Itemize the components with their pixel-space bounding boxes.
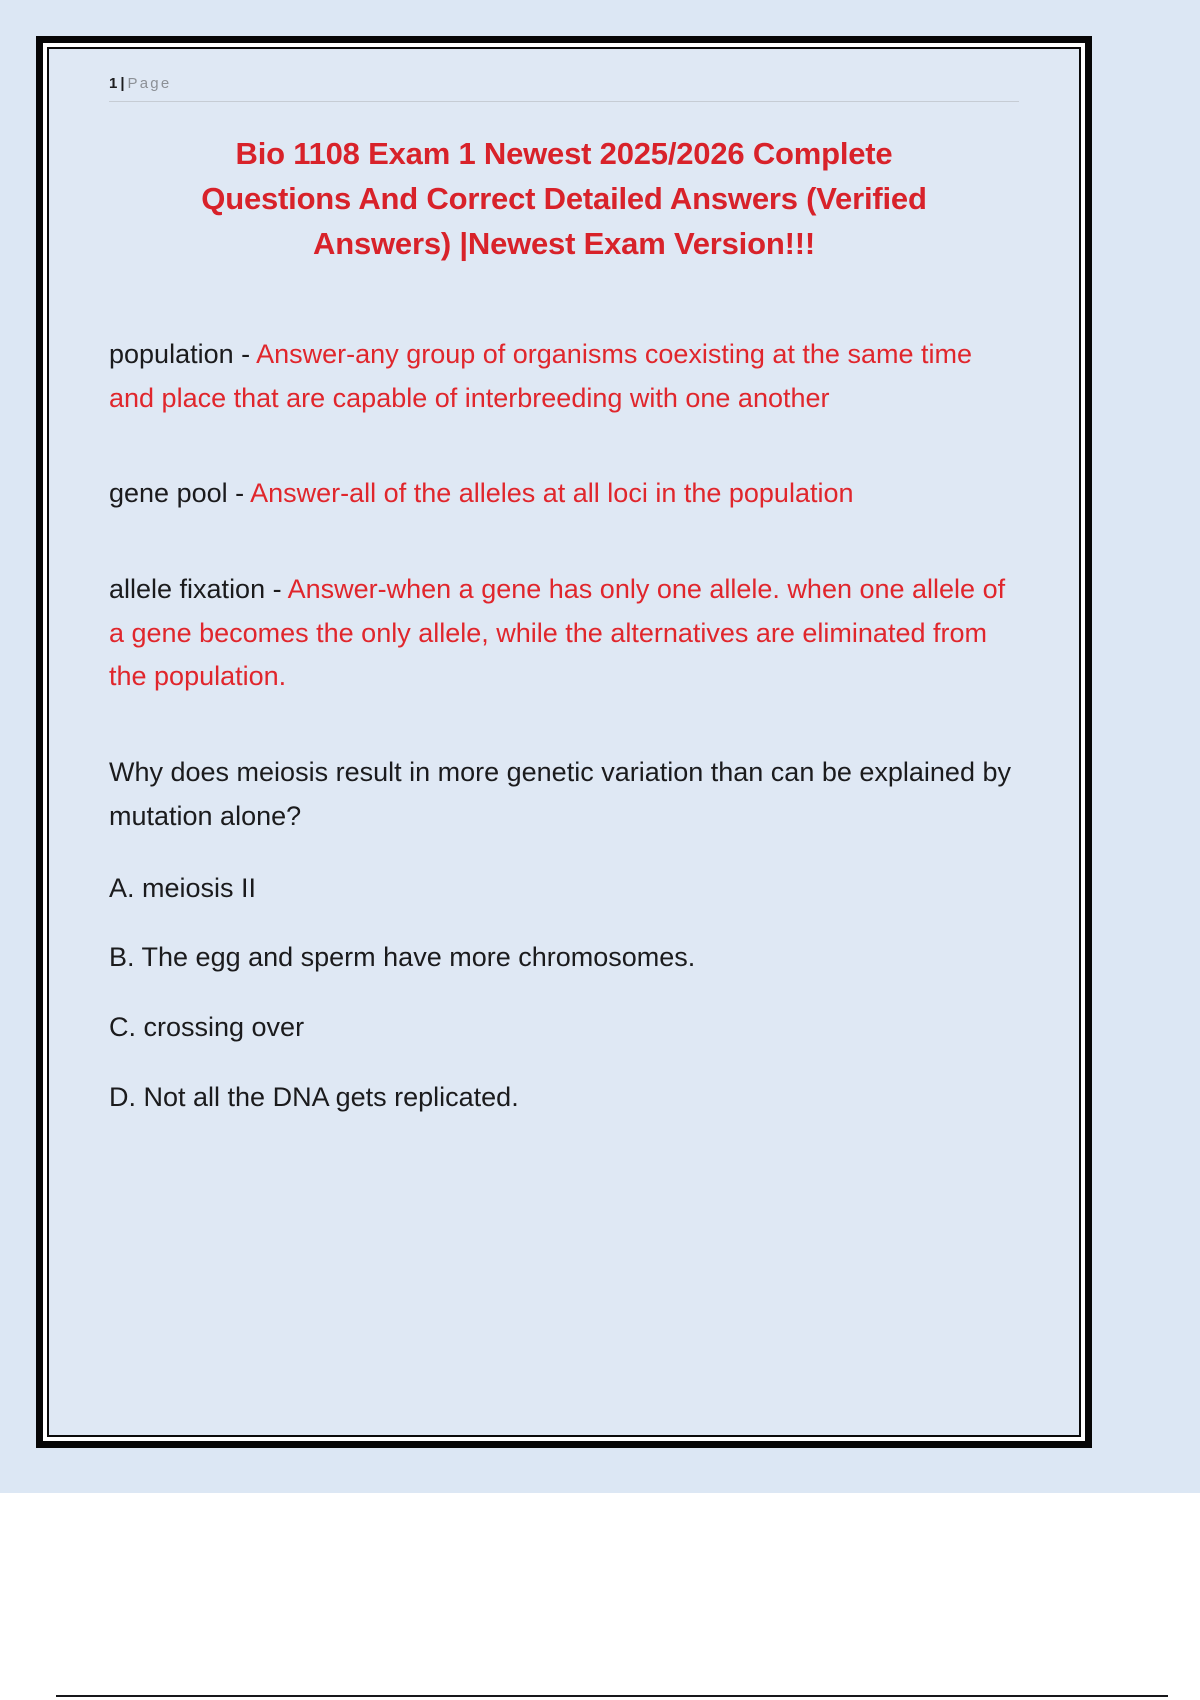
mc-option-d: D. Not all the DNA gets replicated. (109, 1076, 1019, 1120)
page-frame: 1|Page Bio 1108 Exam 1 Newest 2025/2026 … (36, 36, 1092, 1448)
qa-item: gene pool - Answer-all of the alleles at… (109, 472, 1019, 516)
title-line-3: Answers) |Newest Exam Version!!! (125, 222, 1003, 267)
qa-dash: - (234, 339, 257, 369)
qa-dash: - (228, 478, 251, 508)
qa-item: allele fixation - Answer-when a gene has… (109, 568, 1019, 699)
qa-dash: - (265, 574, 288, 604)
bottom-divider-rule (56, 1695, 1168, 1697)
below-page-whitespace (0, 1493, 1200, 1700)
qa-term: allele fixation (109, 574, 265, 604)
mc-option-c: C. crossing over (109, 1006, 1019, 1050)
title-line-2: Questions And Correct Detailed Answers (… (125, 177, 1003, 222)
header-page-label: Page (128, 75, 172, 92)
page-content: 1|Page Bio 1108 Exam 1 Newest 2025/2026 … (49, 49, 1079, 1435)
multiple-choice-block: Why does meiosis result in more genetic … (109, 751, 1019, 1119)
document-title: Bio 1108 Exam 1 Newest 2025/2026 Complet… (125, 132, 1003, 267)
mc-option-b: B. The egg and sperm have more chromosom… (109, 936, 1019, 980)
mc-question: Why does meiosis result in more genetic … (109, 751, 1019, 838)
mc-option-a: A. meiosis II (109, 867, 1019, 911)
qa-term: gene pool (109, 478, 228, 508)
header-separator: | (117, 75, 127, 92)
title-line-1: Bio 1108 Exam 1 Newest 2025/2026 Complet… (125, 132, 1003, 177)
page-header: 1|Page (109, 75, 1019, 101)
qa-item: population - Answer-any group of organis… (109, 333, 1019, 420)
qa-answer: Answer-all of the alleles at all loci in… (250, 478, 853, 508)
header-divider (109, 101, 1019, 102)
qa-list: population - Answer-any group of organis… (109, 333, 1019, 699)
document-canvas: 1|Page Bio 1108 Exam 1 Newest 2025/2026 … (0, 0, 1200, 1493)
page-inner-border: 1|Page Bio 1108 Exam 1 Newest 2025/2026 … (47, 47, 1081, 1437)
qa-term: population (109, 339, 234, 369)
